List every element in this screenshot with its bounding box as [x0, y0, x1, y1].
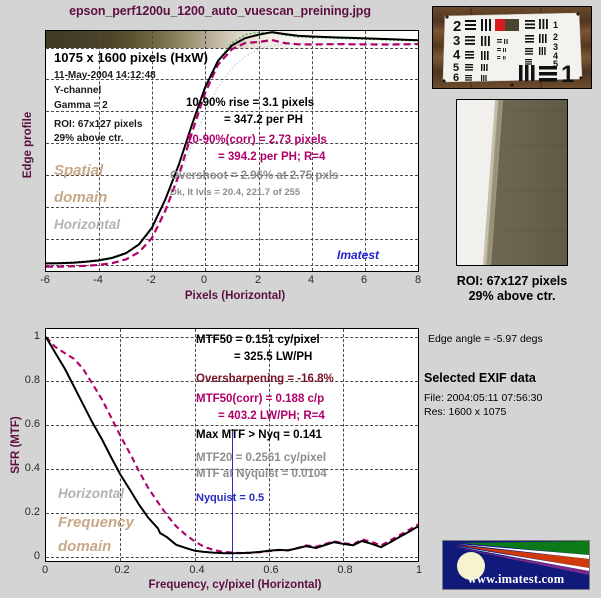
svg-text:2: 2	[553, 32, 558, 42]
mtf-xaxis-title: Frequency, cy/pixel (Horizontal)	[105, 579, 365, 591]
imatest-watermark: Imatest	[337, 248, 379, 262]
mtf-xtick: 0.8	[328, 564, 362, 576]
mtf-anno-mtf50-corrected: MTF50(corr) = 0.188 c/p	[196, 393, 324, 405]
svg-text:1: 1	[561, 61, 574, 88]
mtf-anno-mtf-at-nyquist: MTF at Nyquist = 0.0104	[196, 468, 327, 480]
imatest-logo[interactable]: www.imatest.com	[442, 540, 590, 590]
mtf-anno-domain-line2: domain	[58, 538, 111, 555]
edge-anno-rise-corrected: 10-90%(corr) = 2.73 pixels	[186, 134, 327, 146]
edge-anno-overshoot: Overshoot = 2.96% at 2.75 pxls	[170, 170, 338, 182]
edge-xaxis-title: Pixels (Horizontal)	[140, 290, 330, 302]
edge-xtick: 0	[194, 274, 214, 286]
exif-file: File: 2004:05:11 07:56:30	[424, 392, 542, 404]
edge-xtick: 6	[354, 274, 374, 286]
test-chart-photo: 2 3 4 5 6	[432, 6, 592, 89]
mtf-xtick: 1	[409, 564, 429, 576]
mtf-xtick: 0	[35, 564, 55, 576]
edge-xtick: -4	[88, 274, 108, 286]
roi-crop-image	[456, 99, 568, 266]
page-title: epson_perf1200u_1200_auto_vuescan_preini…	[0, 4, 440, 18]
mtf-anno-domain-line1: Frequency	[58, 514, 134, 531]
imatest-sfr-report: epson_perf1200u_1200_auto_vuescan_preini…	[0, 0, 601, 598]
edge-anno-rise-ph: = 347.2 per PH	[224, 114, 303, 126]
mtf-anno-nyquist: Nyquist = 0.5	[196, 492, 264, 504]
mtf-anno-mtf50-corrected-lwph: = 403.2 LW/PH; R=4	[218, 410, 325, 422]
edge-xtick: 2	[248, 274, 268, 286]
edge-anno-domain-line1: Spatial	[54, 162, 103, 179]
mtf-ytick: 0	[12, 550, 40, 562]
mtf-ytick: 1	[12, 330, 40, 342]
mtf-yaxis-title: SFR (MTF)	[10, 390, 22, 500]
mtf-anno-max-mtf: Max MTF > Nyq = 0.141	[196, 429, 322, 441]
edge-angle-value: Edge angle = -5.97 degs	[428, 333, 543, 345]
edge-anno-rise: 10-90% rise = 3.1 pixels	[186, 97, 314, 109]
edge-anno-channel: Y-channel	[54, 85, 101, 96]
edge-anno-levels: Dk, lt lvls = 20.4, 221.7 of 255	[170, 187, 300, 198]
edge-xtick: 4	[301, 274, 321, 286]
edge-xtick: -6	[35, 274, 55, 286]
imatest-logo-text: www.imatest.com	[443, 572, 589, 587]
edge-anno-orientation: Horizontal	[54, 217, 120, 232]
roi-caption-line1: ROI: 67x127 pixels	[432, 274, 592, 288]
roi-caption-line2: 29% above ctr.	[432, 289, 592, 303]
svg-text:4: 4	[453, 47, 461, 62]
exif-resolution: Res: 1600 x 1075	[424, 406, 506, 418]
edge-anno-roi: ROI: 67x127 pixels	[54, 119, 142, 130]
svg-text:1: 1	[553, 20, 558, 30]
svg-text:6: 6	[453, 72, 459, 84]
exif-header: Selected EXIF data	[424, 371, 536, 385]
mtf-chart: MTF50 = 0.151 cy/pixel = 325.5 LW/PH Ove…	[45, 328, 419, 562]
svg-text:3: 3	[453, 33, 460, 48]
edge-anno-dimensions: 1075 x 1600 pixels (HxW)	[54, 50, 208, 65]
edge-anno-datetime: 11-May-2004 14:12:48	[54, 70, 156, 81]
edge-anno-roi-position: 29% above ctr.	[54, 133, 123, 144]
mtf-anno-mtf50-lwph: = 325.5 LW/PH	[234, 351, 312, 363]
edge-xtick: 8	[408, 274, 428, 286]
mtf-anno-orientation: Horizontal	[58, 486, 124, 501]
mtf-xtick: 0.2	[105, 564, 139, 576]
edge-yaxis-title: Edge profile	[22, 85, 34, 205]
mtf-anno-mtf50: MTF50 = 0.151 cy/pixel	[196, 334, 320, 346]
mtf-xtick: 0.6	[254, 564, 288, 576]
mtf-ytick: 0.2	[12, 506, 40, 518]
mtf-anno-mtf20: MTF20 = 0.2561 cy/pixel	[196, 452, 326, 464]
edge-xtick: -2	[141, 274, 161, 286]
edge-anno-gamma: Gamma = 2	[54, 100, 108, 111]
edge-profile-chart: 1075 x 1600 pixels (HxW) 11-May-2004 14:…	[45, 30, 419, 272]
edge-anno-domain-line2: domain	[54, 189, 107, 206]
mtf-ytick: 0.8	[12, 374, 40, 386]
mtf-xtick: 0.4	[180, 564, 214, 576]
mtf-anno-oversharpening: Oversharpening = -16.8%	[196, 373, 334, 385]
edge-anno-rise-corrected-ph: = 394.2 per PH; R=4	[218, 151, 325, 163]
